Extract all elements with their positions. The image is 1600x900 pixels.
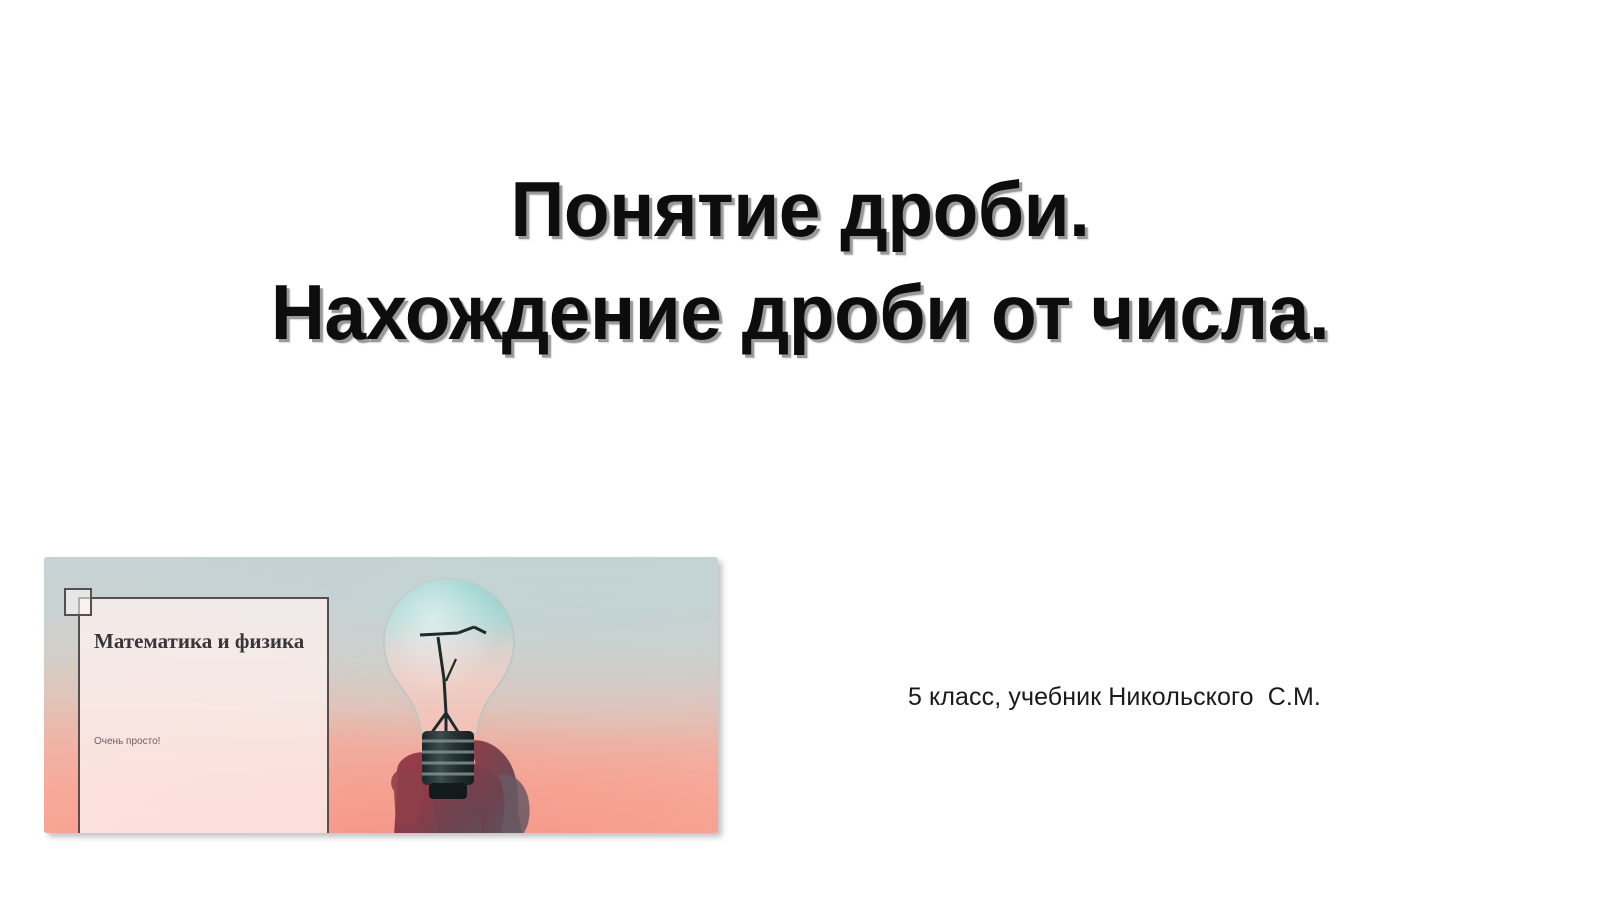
card-heading-text: Математика и физика bbox=[94, 629, 304, 654]
picture-card[interactable]: Математика и физика Очень просто! bbox=[44, 557, 718, 833]
title-line-1: Понятие дроби. bbox=[32, 158, 1568, 261]
lightbulb-illustration bbox=[334, 563, 564, 833]
title-line-2: Нахождение дроби от числа. bbox=[32, 261, 1568, 364]
bulb-glass bbox=[384, 579, 514, 733]
slide-title: Понятие дроби. Нахождение дроби от числа… bbox=[0, 158, 1600, 364]
card-caption-text: Очень просто! bbox=[94, 736, 160, 747]
slide-subtitle: 5 класс, учебник Никольского С.М. bbox=[908, 683, 1321, 712]
bulb-screw-base bbox=[422, 731, 474, 799]
card-corner-square-accent bbox=[64, 588, 92, 616]
slide-canvas: Понятие дроби. Нахождение дроби от числа… bbox=[0, 0, 1600, 900]
